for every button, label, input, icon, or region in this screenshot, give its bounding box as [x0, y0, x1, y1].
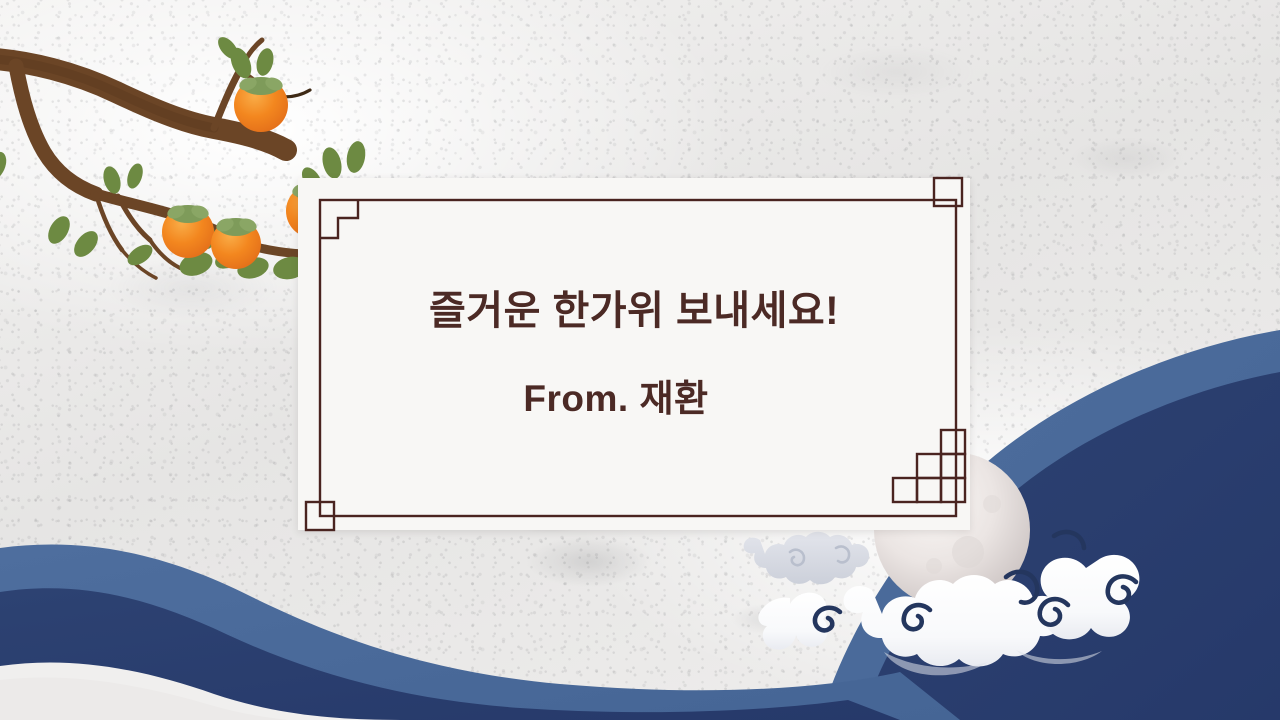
corner-staircase-bottom-right [893, 430, 965, 502]
corner-step-top-left [320, 200, 358, 238]
greeting-card-canvas: 즐거운 한가위 보내세요! From. 재환 [0, 0, 1280, 720]
corner-notch-top-right [934, 178, 962, 206]
cloud-small [744, 532, 869, 585]
greeting-card: 즐거운 한가위 보내세요! From. 재환 [298, 178, 970, 530]
card-border-frame [298, 178, 970, 530]
